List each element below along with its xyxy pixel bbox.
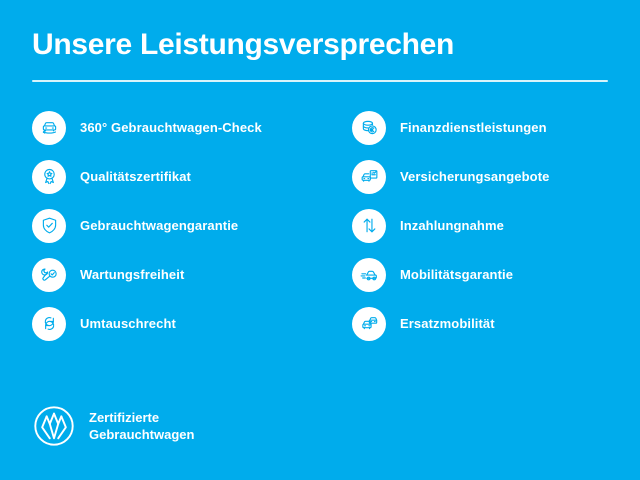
benefit-item-qualitaetszertifikat[interactable]: Qualitätszertifikat xyxy=(32,152,320,201)
brand-line-2: Gebrauchtwagen xyxy=(89,426,194,443)
title-divider xyxy=(32,80,608,82)
benefits-column-right: Finanzdienstleistungen Versicherungsange… xyxy=(352,103,640,348)
benefit-label: Gebrauchtwagengarantie xyxy=(80,218,238,234)
benefit-label: Wartungsfreiheit xyxy=(80,267,184,283)
benefit-label: Versicherungsangebote xyxy=(400,169,549,185)
benefit-item-versicherungsangebote[interactable]: Versicherungsangebote xyxy=(352,152,640,201)
brand-text: Zertifizierte Gebrauchtwagen xyxy=(89,409,194,443)
volkswagen-logo-icon xyxy=(32,404,76,448)
benefits-columns: 360° Gebrauchtwagen-Check Qualitätszerti… xyxy=(32,103,608,348)
header: Unsere Leistungsversprechen xyxy=(32,0,608,82)
benefit-label: Qualitätszertifikat xyxy=(80,169,191,185)
benefit-item-umtauschrecht[interactable]: Umtauschrecht xyxy=(32,299,320,348)
benefit-item-ersatzmobilitaet[interactable]: Ersatzmobilität xyxy=(352,299,640,348)
car-speed-icon xyxy=(352,258,386,292)
benefit-label: Finanzdienstleistungen xyxy=(400,120,547,136)
car-360-check-icon xyxy=(32,111,66,145)
benefit-item-finanzdienstleistungen[interactable]: Finanzdienstleistungen xyxy=(352,103,640,152)
arrows-up-down-icon xyxy=(352,209,386,243)
coins-euro-icon xyxy=(352,111,386,145)
benefit-label: Umtauschrecht xyxy=(80,316,176,332)
shield-check-icon xyxy=(32,209,66,243)
benefit-label: 360° Gebrauchtwagen-Check xyxy=(80,120,262,136)
benefits-column-left: 360° Gebrauchtwagen-Check Qualitätszerti… xyxy=(32,103,320,348)
exchange-arrows-icon xyxy=(32,307,66,341)
two-cars-icon xyxy=(352,307,386,341)
benefit-item-inzahlungnahme[interactable]: Inzahlungnahme xyxy=(352,201,640,250)
award-rosette-icon xyxy=(32,160,66,194)
benefit-item-mobilitaetsgarantie[interactable]: Mobilitätsgarantie xyxy=(352,250,640,299)
benefit-item-gebrauchtwagengarantie[interactable]: Gebrauchtwagengarantie xyxy=(32,201,320,250)
benefit-label: Mobilitätsgarantie xyxy=(400,267,513,283)
car-document-icon xyxy=(352,160,386,194)
brand-footer: Zertifizierte Gebrauchtwagen xyxy=(32,404,194,448)
promise-panel: Unsere Leistungsversprechen xyxy=(0,0,640,480)
wrench-check-icon xyxy=(32,258,66,292)
brand-line-1: Zertifizierte xyxy=(89,409,194,426)
benefit-item-gebrauchtwagen-check[interactable]: 360° Gebrauchtwagen-Check xyxy=(32,103,320,152)
benefit-label: Inzahlungnahme xyxy=(400,218,504,234)
benefit-item-wartungsfreiheit[interactable]: Wartungsfreiheit xyxy=(32,250,320,299)
benefit-label: Ersatzmobilität xyxy=(400,316,495,332)
page-title: Unsere Leistungsversprechen xyxy=(32,28,608,61)
